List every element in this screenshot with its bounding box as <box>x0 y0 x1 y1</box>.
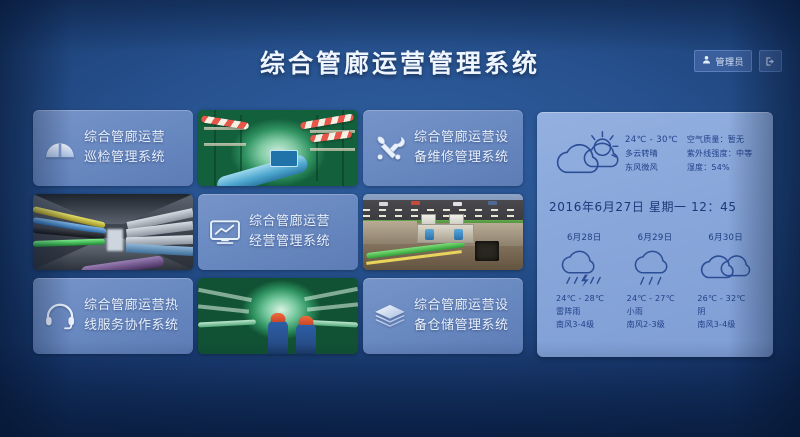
green-pipe-tunnel-photo <box>198 110 358 186</box>
module-tile-maintenance[interactable]: 综合管廊运营设 备维修管理系统 <box>363 110 523 186</box>
weather-temperature: 24℃ - 30℃ <box>625 135 687 145</box>
corridor-perspective-photo <box>33 194 193 270</box>
app-header: 综合管廊运营管理系统 管理员 <box>0 0 800 100</box>
logout-button[interactable] <box>759 50 782 72</box>
forecast-wind: 南风3-4级 <box>697 320 761 330</box>
photo-tile-green-pipe-tunnel[interactable] <box>198 110 358 186</box>
module-tile-inspection[interactable]: 综合管廊运营 巡检管理系统 <box>33 110 193 186</box>
module-tile-label: 综合管廊运营 经营管理系统 <box>249 212 330 252</box>
photo-tile-corridor-perspective[interactable] <box>33 194 193 270</box>
forecast-date: 6月29日 <box>620 231 691 243</box>
page-title: 综合管廊运营管理系统 <box>0 44 800 80</box>
road-cross-section-photo <box>363 194 523 270</box>
forecast-temperature: 26℃ - 32℃ <box>697 294 761 304</box>
photo-tile-workers-tunnel[interactable] <box>198 278 358 354</box>
sun-behind-cloud-icon <box>549 128 625 180</box>
forecast-day: 6月28日 24℃ - 28℃ 雷阵雨 <box>549 231 620 333</box>
module-tile-label: 综合管廊运营设 备维修管理系统 <box>414 128 509 168</box>
weather-datetime: 2016年6月27日 星期一 12：45 <box>549 198 761 215</box>
cloudy-icon <box>690 248 761 288</box>
forecast-condition: 小雨 <box>627 307 691 317</box>
workers-tunnel-photo <box>198 278 358 354</box>
module-tile-warehouse[interactable]: 综合管廊运营设 备仓储管理系统 <box>363 278 523 354</box>
weather-condition: 多云转晴 <box>625 149 687 159</box>
tools-wrench-icon <box>373 131 407 165</box>
module-tile-label: 综合管廊运营热 线服务协作系统 <box>84 296 179 336</box>
weather-today-left: 24℃ - 30℃ 多云转晴 东风微风 <box>625 135 687 173</box>
forecast-temperature: 24℃ - 27℃ <box>627 294 691 304</box>
user-badge[interactable]: 管理员 <box>694 50 752 72</box>
forecast-details: 24℃ - 28℃ 雷阵雨 南风3-4级 <box>549 294 620 330</box>
module-tile-label: 综合管廊运营 巡检管理系统 <box>84 128 165 168</box>
module-tile-label: 综合管廊运营设 备仓储管理系统 <box>414 296 509 336</box>
module-tile-operations[interactable]: 综合管廊运营 经营管理系统 <box>198 194 358 270</box>
forecast-day: 6月29日 24℃ - 27℃ 小雨 南风2-3级 <box>620 231 691 333</box>
module-tile-hotline[interactable]: 综合管廊运营热 线服务协作系统 <box>33 278 193 354</box>
forecast-date: 6月28日 <box>549 231 620 243</box>
forecast-condition: 雷阵雨 <box>556 307 620 317</box>
weather-wind: 东风微风 <box>625 163 687 173</box>
rain-icon <box>620 248 691 288</box>
forecast-day: 6月30日 26℃ - 32℃ 阴 南风3-4级 <box>690 231 761 333</box>
layers-stack-icon <box>373 299 407 333</box>
forecast-details: 26℃ - 32℃ 阴 南风3-4级 <box>690 294 761 330</box>
weather-air-quality: 空气质量：暂无 <box>687 135 761 145</box>
user-icon <box>702 55 711 67</box>
weather-today: 24℃ - 30℃ 多云转晴 东风微风 空气质量：暂无 紫外线强度：中等 湿度：… <box>549 122 761 186</box>
dashboard-root: 综合管廊运营管理系统 管理员 <box>0 0 800 437</box>
tunnel-dome-icon <box>43 131 77 165</box>
logout-icon <box>765 52 776 71</box>
thunderstorm-icon <box>549 248 620 288</box>
weather-forecast: 6月28日 24℃ - 28℃ 雷阵雨 <box>549 231 761 333</box>
forecast-date: 6月30日 <box>690 231 761 243</box>
user-area: 管理员 <box>694 50 782 72</box>
weather-panel: 24℃ - 30℃ 多云转晴 东风微风 空气质量：暂无 紫外线强度：中等 湿度：… <box>537 112 773 357</box>
forecast-wind: 南风2-3级 <box>627 320 691 330</box>
forecast-wind: 南风3-4级 <box>556 320 620 330</box>
forecast-condition: 阴 <box>697 307 761 317</box>
monitor-chart-icon <box>208 215 242 249</box>
photo-tile-road-cross-section[interactable] <box>363 194 523 270</box>
forecast-temperature: 24℃ - 28℃ <box>556 294 620 304</box>
headset-icon <box>43 299 77 333</box>
user-name-label: 管理员 <box>715 55 744 68</box>
weather-uv-index: 紫外线强度：中等 <box>687 149 761 159</box>
weather-humidity: 湿度：54% <box>687 163 761 173</box>
forecast-details: 24℃ - 27℃ 小雨 南风2-3级 <box>620 294 691 330</box>
weather-today-right: 空气质量：暂无 紫外线强度：中等 湿度：54% <box>687 135 761 173</box>
